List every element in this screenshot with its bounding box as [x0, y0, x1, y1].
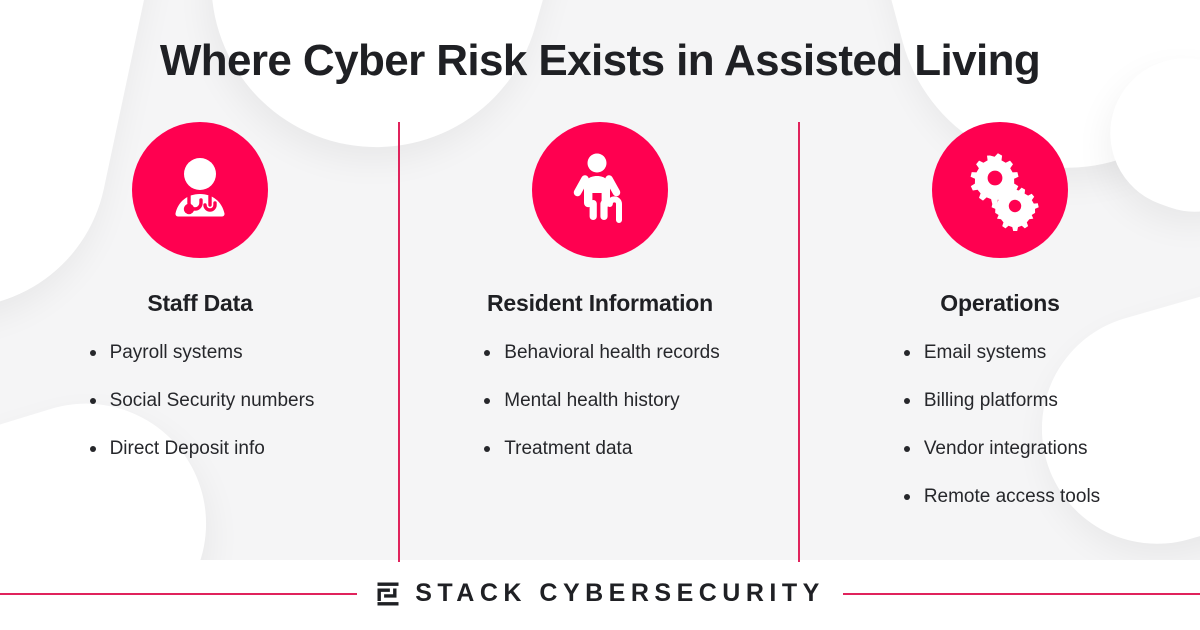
footer-rule-left: [0, 593, 357, 595]
list-item: Mental health history: [480, 391, 719, 410]
content-root: Where Cyber Risk Exists in Assisted Livi…: [0, 0, 1200, 630]
column-heading: Resident Information: [487, 290, 713, 317]
column-staff-data: Staff Data Payroll systems Social Securi…: [0, 122, 400, 562]
risk-item-list: Email systems Billing platforms Vendor i…: [800, 343, 1200, 535]
staff-stethoscope-icon: [132, 122, 268, 258]
gears-icon: [932, 122, 1068, 258]
elderly-person-cane-icon: [532, 122, 668, 258]
column-operations: Operations Email systems Billing platfor…: [800, 122, 1200, 562]
list-item: Social Security numbers: [86, 391, 315, 410]
stack-layers-logo-icon: [375, 581, 401, 607]
footer-rule-right: [843, 593, 1200, 595]
list-item: Payroll systems: [86, 343, 315, 362]
list-item: Treatment data: [480, 439, 719, 458]
risk-item-list: Payroll systems Social Security numbers …: [0, 343, 400, 487]
infographic-canvas: Where Cyber Risk Exists in Assisted Livi…: [0, 0, 1200, 630]
column-resident-information: Resident Information Behavioral health r…: [400, 122, 800, 562]
page-title: Where Cyber Risk Exists in Assisted Livi…: [0, 36, 1200, 86]
list-item: Behavioral health records: [480, 343, 719, 362]
risk-category-columns: Staff Data Payroll systems Social Securi…: [0, 122, 1200, 562]
list-item: Direct Deposit info: [86, 439, 315, 458]
footer-brand-bar: STACK CYBERSECURITY: [0, 579, 1200, 608]
list-item: Vendor integrations: [900, 439, 1100, 458]
risk-item-list: Behavioral health records Mental health …: [400, 343, 800, 487]
brand-name: STACK CYBERSECURITY: [415, 579, 825, 608]
column-heading: Operations: [940, 290, 1059, 317]
list-item: Email systems: [900, 343, 1100, 362]
list-item: Remote access tools: [900, 487, 1100, 506]
column-heading: Staff Data: [147, 290, 252, 317]
brand-lockup: STACK CYBERSECURITY: [375, 579, 825, 608]
list-item: Billing platforms: [900, 391, 1100, 410]
